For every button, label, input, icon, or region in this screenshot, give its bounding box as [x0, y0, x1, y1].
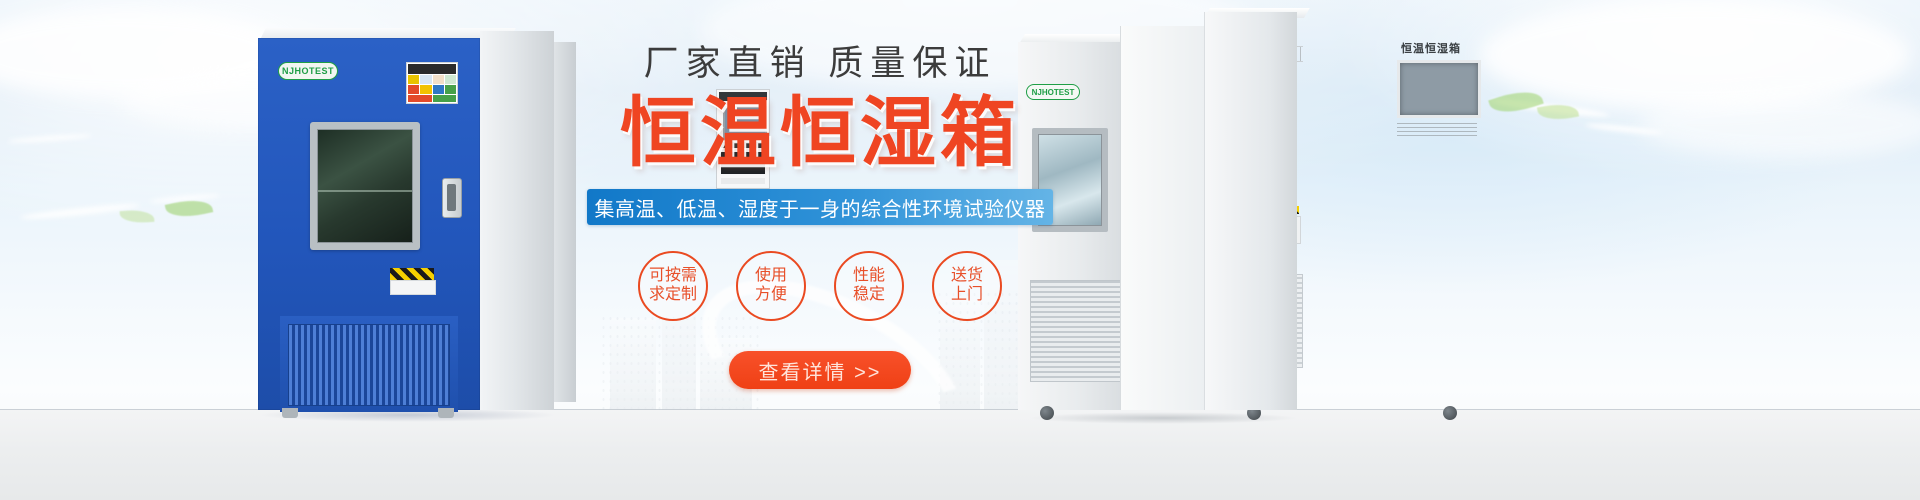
- view-details-button[interactable]: 查看详情 >>: [729, 351, 912, 389]
- feature-circle-line1: 送货: [951, 267, 983, 286]
- feature-circle-line2: 稳定: [853, 286, 885, 305]
- feature-circle-line1: 使用: [755, 267, 787, 286]
- product-brand-logo: NJHOTEST: [278, 62, 338, 80]
- leaf-decoration: [120, 209, 155, 224]
- floor-band: [0, 410, 1920, 500]
- feature-circle-line2: 方便: [755, 286, 787, 305]
- spec-plate: [390, 280, 436, 295]
- product-side-panel: [480, 31, 554, 410]
- product-image-left: NJHOTEST: [258, 28, 576, 410]
- feature-circle-line2: 求定制: [649, 286, 697, 305]
- control-panel-screen: [1397, 60, 1481, 118]
- product-foot: [438, 408, 454, 418]
- hazard-stripe-label: [390, 268, 434, 280]
- feature-circle-stable-performance: 性能 稳定: [834, 251, 904, 321]
- product-caster-wheel: [1443, 406, 1457, 420]
- product-side-panel: 恒温恒湿箱: [1204, 12, 1297, 410]
- product-control-column: [1120, 26, 1205, 410]
- product-view-window: [310, 122, 420, 250]
- feature-circle-line1: 性能: [853, 267, 885, 286]
- banner-tagline: 厂家直销 质量保证: [560, 46, 1080, 81]
- feature-circle-line2: 上门: [951, 286, 983, 305]
- cloud-streak: [8, 133, 92, 144]
- product-foot: [282, 408, 298, 418]
- feature-circle-easy-to-use: 使用 方便: [736, 251, 806, 321]
- banner-copy-block: 厂家直销 质量保证 恒温恒湿箱 集高温、低温、湿度于一身的综合性环境试验仪器 可…: [560, 46, 1080, 389]
- warning-label-sticker: [406, 62, 458, 104]
- product-front-panel: NJHOTEST: [258, 38, 480, 410]
- control-panel-title: 恒温恒湿箱: [1401, 40, 1473, 54]
- cloud-decoration: [1640, 92, 1920, 158]
- product-vent-grille: [288, 324, 450, 406]
- cta-button-wrapper: 查看详情 >>: [560, 351, 1080, 389]
- product-door-handle: [442, 178, 462, 218]
- banner-subtitle-text: 集高温、低温、湿度于一身的综合性环境试验仪器: [595, 193, 1046, 222]
- control-panel-nameplate: [1397, 120, 1477, 136]
- promo-banner: NJHOTEST: [0, 0, 1920, 500]
- feature-circle-list: 可按需 求定制 使用 方便 性能 稳定 送货 上门: [560, 251, 1080, 321]
- feature-circle-delivery: 送货 上门: [932, 251, 1002, 321]
- product-window-glass: [317, 129, 413, 243]
- feature-circle-customizable: 可按需 求定制: [638, 251, 708, 321]
- product-caster-wheel: [1040, 406, 1054, 420]
- banner-main-title: 恒温恒湿箱: [560, 93, 1080, 175]
- feature-circle-line1: 可按需: [649, 267, 697, 286]
- banner-subtitle-bar: 集高温、低温、湿度于一身的综合性环境试验仪器: [587, 189, 1053, 225]
